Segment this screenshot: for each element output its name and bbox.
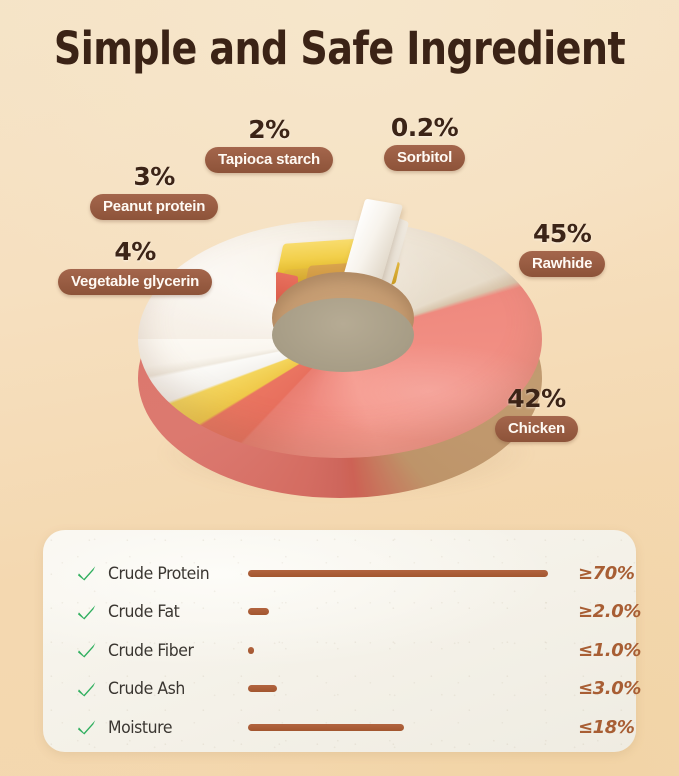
page-title: Simple and Safe Ingredient: [20, 22, 658, 76]
guaranteed-analysis-panel: Crude Protein ≥70% Crude Fat ≥2.0% Crude…: [43, 530, 636, 752]
nutrition-value: ≥70%: [578, 563, 635, 584]
callout-percent: 4%: [58, 238, 212, 266]
nutrition-bar-track: [248, 639, 566, 661]
callout-chicken: 42% Chicken: [495, 385, 578, 442]
callout-label: Tapioca starch: [205, 147, 333, 173]
check-icon: [76, 601, 98, 623]
callout-label: Peanut protein: [90, 194, 218, 220]
nutrition-value: ≤1.0%: [578, 640, 641, 661]
callout-rawhide: 45% Rawhide: [519, 220, 605, 277]
nutrition-row-4: Moisture ≤18%: [43, 708, 636, 747]
callout-label: Rawhide: [519, 251, 605, 277]
nutrition-label: Crude Protein: [108, 564, 241, 583]
callout-peanut-protein: 3% Peanut protein: [90, 163, 218, 220]
nutrition-bar-fill: [248, 724, 404, 731]
callout-label: Vegetable glycerin: [58, 269, 212, 295]
callout-label: Chicken: [495, 416, 578, 442]
nutrition-label: Crude Fiber: [108, 641, 241, 660]
nutrition-bar-track: [248, 716, 566, 738]
nutrition-value: ≤3.0%: [578, 678, 641, 699]
nutrition-row-2: Crude Fiber ≤1.0%: [43, 631, 636, 670]
nutrition-row-1: Crude Fat ≥2.0%: [43, 593, 636, 632]
callout-percent: 0.2%: [384, 114, 465, 142]
callout-percent: 42%: [495, 385, 578, 413]
nutrition-label: Moisture: [108, 718, 241, 737]
callout-percent: 3%: [90, 163, 218, 191]
infographic-page: Simple and Safe Ingredient 2% Tapioca st…: [0, 0, 679, 776]
callout-vegetable-glycerin: 4% Vegetable glycerin: [58, 238, 212, 295]
check-icon: [76, 639, 98, 661]
nutrition-bar-fill: [248, 647, 254, 654]
nutrition-bar-fill: [248, 685, 277, 692]
callout-percent: 45%: [519, 220, 605, 248]
nutrition-value: ≤18%: [578, 717, 635, 738]
donut-body: [120, 180, 560, 450]
nutrition-bar-track: [248, 678, 566, 700]
donut-hole: [272, 298, 414, 372]
ingredient-donut-chart: 2% Tapioca starch 0.2% Sorbitol 3% Peanu…: [0, 140, 679, 515]
check-icon: [76, 562, 98, 584]
nutrition-bar-track: [248, 601, 566, 623]
nutrition-label: Crude Ash: [108, 679, 241, 698]
check-icon: [76, 716, 98, 738]
callout-tapioca-starch: 2% Tapioca starch: [205, 116, 333, 173]
nutrition-value: ≥2.0%: [578, 601, 641, 622]
nutrition-row-0: Crude Protein ≥70%: [43, 554, 636, 593]
callout-sorbitol: 0.2% Sorbitol: [384, 114, 465, 171]
nutrition-bar-fill: [248, 570, 548, 577]
nutrition-bar-track: [248, 562, 566, 584]
nutrition-row-3: Crude Ash ≤3.0%: [43, 670, 636, 709]
check-icon: [76, 678, 98, 700]
callout-label: Sorbitol: [384, 145, 465, 171]
nutrition-label: Crude Fat: [108, 602, 241, 621]
callout-percent: 2%: [205, 116, 333, 144]
nutrition-bar-fill: [248, 608, 269, 615]
